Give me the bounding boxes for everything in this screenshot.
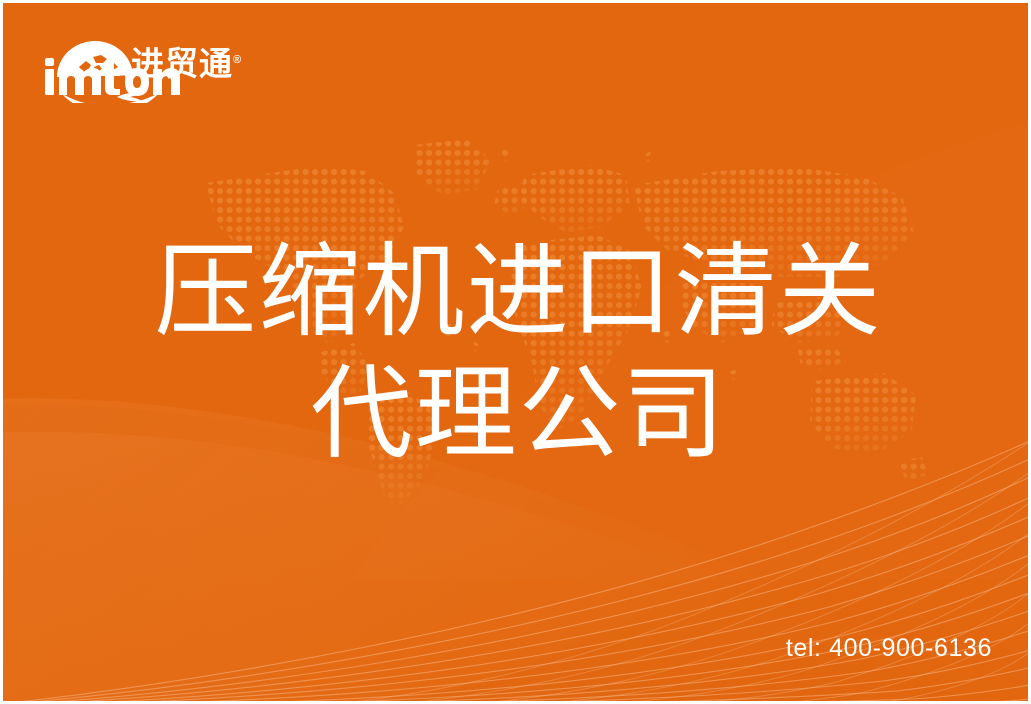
trademark-icon: ®	[233, 54, 242, 66]
headline-line-1: 压缩机进口清关	[3, 231, 1031, 353]
logo-chinese-text: 进贸通	[131, 45, 233, 82]
logo-chinese-name: 进贸通®	[131, 47, 242, 80]
contact-phone[interactable]: tel: 400-900-6136	[786, 634, 992, 663]
headline-line-2: 代理公司	[3, 353, 1031, 475]
promo-banner: 进贸通® 压缩机进口清关 代理公司 tel: 400-900-6136	[0, 0, 1031, 704]
phone-text: tel: 400-900-6136	[786, 634, 992, 662]
page-title: 压缩机进口清关 代理公司	[3, 231, 1031, 475]
